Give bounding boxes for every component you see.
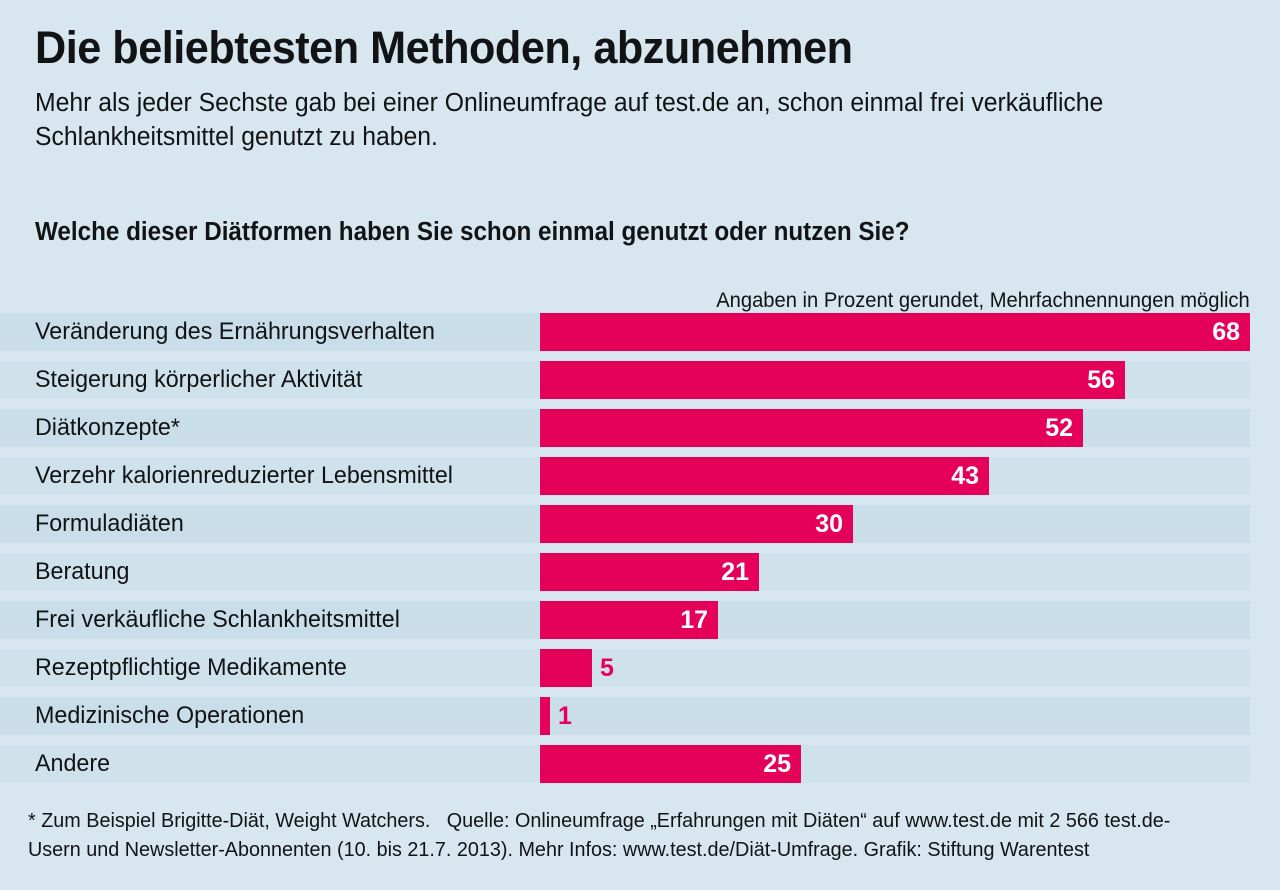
table-row: Veränderung des Ernährungsverhalten68 — [0, 313, 1280, 361]
bar-value-label: 5 — [600, 649, 614, 687]
table-row: Formuladiäten30 — [0, 505, 1280, 553]
bar — [540, 649, 592, 687]
page-title: Die beliebtesten Methoden, abzunehmen — [35, 24, 1201, 73]
bar-value-label: 25 — [763, 745, 791, 783]
table-row: Andere25 — [0, 745, 1280, 793]
bar-value-label: 43 — [951, 457, 979, 495]
bar-value-label: 30 — [815, 505, 843, 543]
bar-category-label: Verzehr kalorienreduzierter Lebensmittel — [35, 457, 453, 495]
table-row: Rezeptpflichtige Medikamente5 — [0, 649, 1280, 697]
bar-category-label: Frei verkäufliche Schlankheitsmittel — [35, 601, 400, 639]
table-row: Beratung21 — [0, 553, 1280, 601]
bar-chart: Veränderung des Ernährungsverhalten68Ste… — [0, 313, 1280, 793]
bar-category-label: Diätkonzepte* — [35, 409, 180, 447]
chart-note: Angaben in Prozent gerundet, Mehrfachnen… — [716, 290, 1250, 311]
bar-category-label: Andere — [35, 745, 110, 783]
bar-value-label: 1 — [558, 697, 572, 735]
bar — [540, 697, 550, 735]
table-row: Medizinische Operationen1 — [0, 697, 1280, 745]
footnote-asterisk-text: * Zum Beispiel Brigitte-Diät, Weight Wat… — [28, 809, 430, 832]
bar-category-label: Rezeptpflichtige Medikamente — [35, 649, 347, 687]
bar-category-label: Medizinische Operationen — [35, 697, 304, 735]
table-row: Verzehr kalorienreduzierter Lebensmittel… — [0, 457, 1280, 505]
standfirst-text: Mehr als jeder Sechste gab bei einer Onl… — [35, 87, 1151, 155]
bar — [540, 361, 1125, 399]
survey-question: Welche dieser Diätformen haben Sie schon… — [35, 218, 910, 247]
bar-category-label: Steigerung körperlicher Aktivität — [35, 361, 362, 399]
bar — [540, 745, 801, 783]
bar-value-label: 68 — [1212, 313, 1240, 351]
bar-category-label: Formuladiäten — [35, 505, 184, 543]
bar — [540, 409, 1083, 447]
footnote: * Zum Beispiel Brigitte-Diät, Weight Wat… — [28, 806, 1215, 864]
table-row: Steigerung körperlicher Aktivität56 — [0, 361, 1280, 409]
infographic-header: Die beliebtesten Methoden, abzunehmen Me… — [35, 24, 1250, 154]
bar-category-label: Veränderung des Ernährungsverhalten — [35, 313, 435, 351]
bar — [540, 313, 1250, 351]
bar-value-label: 52 — [1045, 409, 1073, 447]
bar-value-label: 17 — [680, 601, 708, 639]
bar-value-label: 56 — [1087, 361, 1115, 399]
bar-category-label: Beratung — [35, 553, 129, 591]
bar — [540, 505, 853, 543]
bar — [540, 457, 989, 495]
table-row: Frei verkäufliche Schlankheitsmittel17 — [0, 601, 1280, 649]
table-row: Diätkonzepte*52 — [0, 409, 1280, 457]
bar-value-label: 21 — [721, 553, 749, 591]
